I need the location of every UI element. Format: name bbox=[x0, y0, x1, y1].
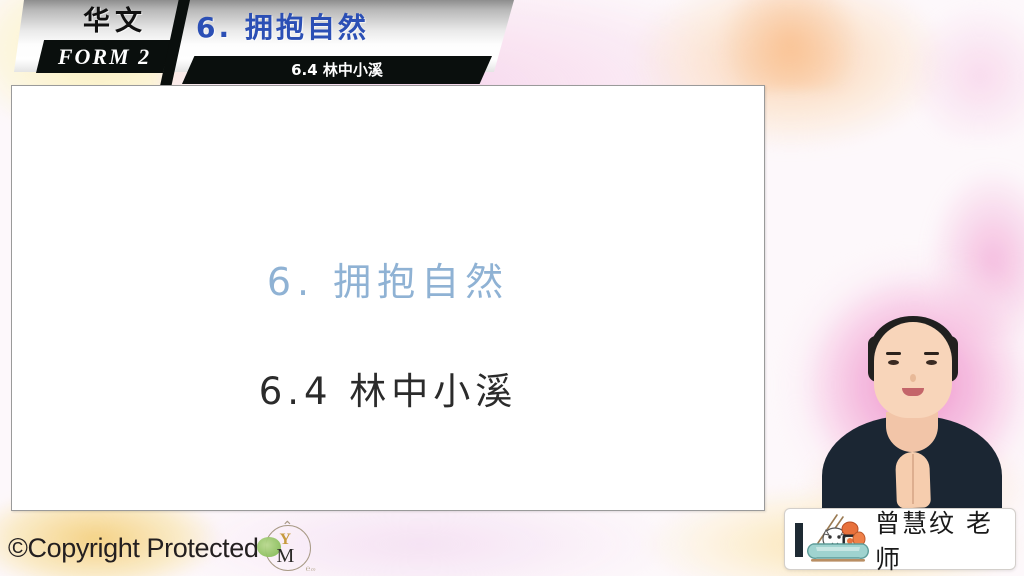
subject-label: 华文 bbox=[60, 5, 170, 39]
ramen-bowl-icon bbox=[807, 513, 869, 567]
presenter-eyebrow-left bbox=[886, 352, 901, 355]
presenter-face bbox=[874, 322, 952, 418]
nameplate-accent-bar bbox=[795, 523, 803, 557]
ym-circle-logo-icon: ⌃ Y M ℮ₘ bbox=[265, 525, 311, 571]
presenter-eyebrow-right bbox=[924, 352, 939, 355]
slide-title: 6. 拥抱自然 bbox=[12, 251, 764, 306]
slide-content-panel: 6. 拥抱自然 6.4 林中小溪 bbox=[11, 85, 765, 511]
wash-pink-right-edge bbox=[900, 0, 1024, 140]
teacher-name: 曾慧纹 老师 bbox=[875, 509, 1015, 571]
logo-letter-m: M bbox=[277, 545, 295, 568]
logo-tail-mark: ℮ₘ bbox=[306, 564, 316, 573]
header-banner: 华文 FORM 2 6. 拥抱自然 6.4 林中小溪 bbox=[0, 0, 520, 86]
copyright-text: ©Copyright Protected bbox=[8, 533, 259, 564]
teacher-nameplate: 曾慧纹 老师 bbox=[784, 508, 1016, 570]
presenter-eye-right bbox=[926, 360, 937, 365]
section-subtitle: 6.4 林中小溪 bbox=[182, 56, 492, 84]
form-label: FORM 2 bbox=[42, 42, 167, 71]
slide-screenshot: 华文 FORM 2 6. 拥抱自然 6.4 林中小溪 6. 拥抱自然 6.4 林… bbox=[0, 0, 1024, 576]
presenter-hand-crease bbox=[912, 454, 914, 504]
presenter-video bbox=[812, 300, 1012, 512]
wash-peach-top-accent bbox=[700, 0, 880, 90]
copyright-notice: ©Copyright Protected ⌃ Y M ℮ₘ bbox=[8, 525, 311, 571]
presenter-eye-left bbox=[888, 360, 899, 365]
slide-subtitle: 6.4 林中小溪 bbox=[12, 361, 764, 415]
chapter-title: 6. 拥抱自然 bbox=[196, 8, 496, 48]
presenter-nose bbox=[910, 374, 916, 382]
